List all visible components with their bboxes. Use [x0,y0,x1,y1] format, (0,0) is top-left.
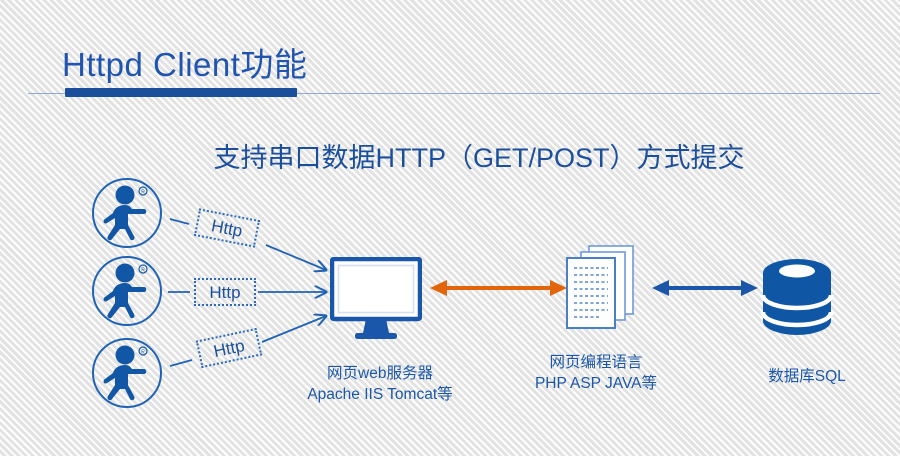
database-node [757,255,837,346]
monitor-icon [330,257,422,341]
language-node [563,244,637,337]
database-icon [757,255,837,341]
http-label-1: Http [194,208,260,247]
language-caption: 网页编程语言 PHP ASP JAVA等 [508,352,684,394]
title-rule-thick [65,88,297,97]
server-caption-line2: Apache IIS Tomcat等 [292,384,468,405]
page-title: Httpd Client功能 [62,38,307,86]
server-node [330,257,422,346]
client-node-3: R [92,338,162,408]
database-caption: 数据库SQL [727,366,887,387]
client-node-2: R [92,256,162,326]
server-caption-line1: 网页web服务器 [292,363,468,384]
page-subtitle: 支持串口数据HTTP（GET/POST）方式提交 [0,136,900,175]
database-caption-line1: 数据库SQL [727,366,887,387]
http-label-2: Http [194,278,256,306]
arrow-language-database [652,280,758,296]
svg-text:R: R [141,268,145,274]
svg-text:R: R [141,190,145,196]
language-caption-line2: PHP ASP JAVA等 [508,373,684,394]
running-man-icon: R [100,344,154,402]
documents-icon [563,244,637,332]
svg-text:R: R [141,350,145,356]
http-label-3: Http [196,328,262,368]
arrow-server-language [430,280,567,296]
language-caption-line1: 网页编程语言 [508,352,684,373]
slide-canvas: Httpd Client功能 支持串口数据HTTP（GET/POST）方式提交 … [0,0,900,456]
client-node-1: R [92,178,162,248]
running-man-icon: R [100,184,154,242]
server-caption: 网页web服务器 Apache IIS Tomcat等 [292,363,468,405]
running-man-icon: R [100,262,154,320]
